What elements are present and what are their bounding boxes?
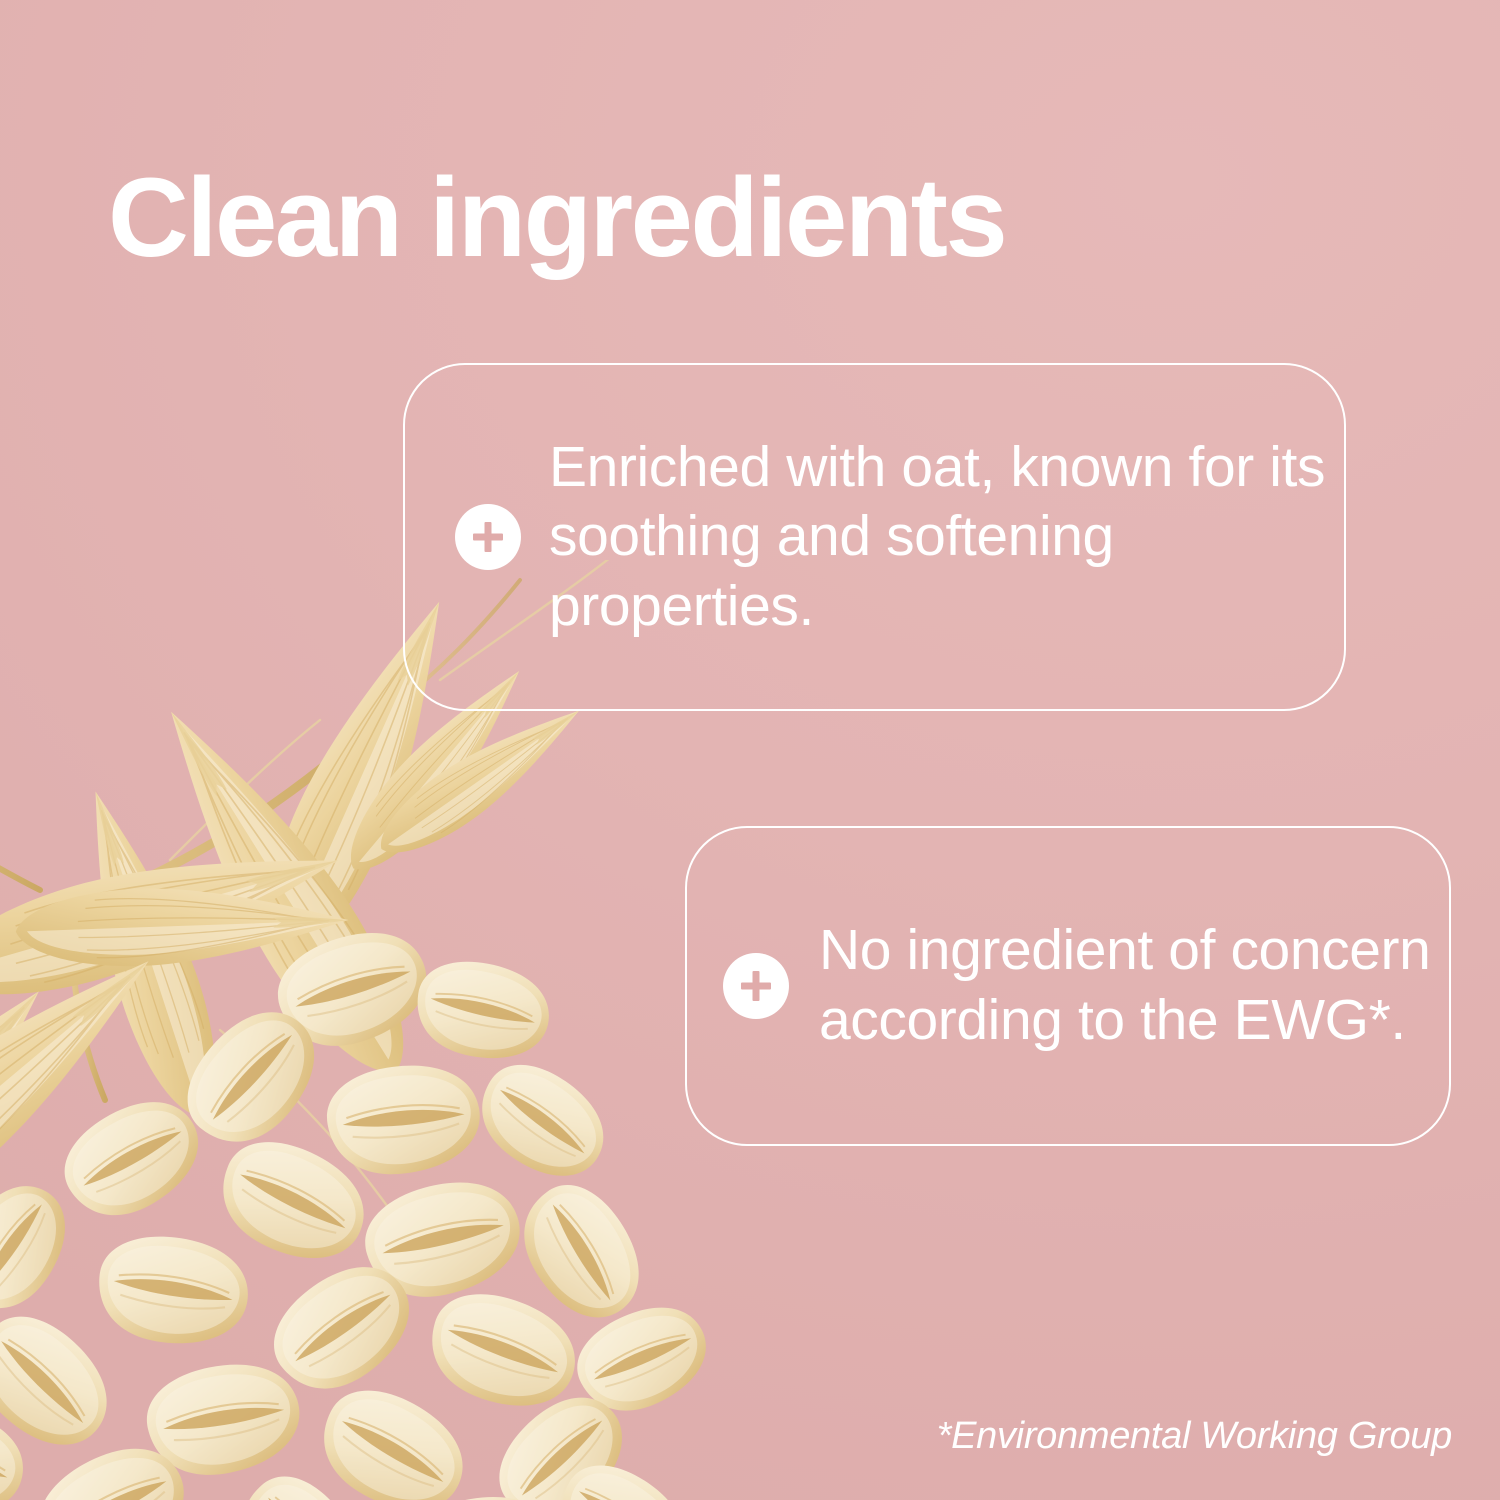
page-title: Clean ingredients — [108, 161, 1005, 275]
footnote-ewg-definition: *Environmental Working Group — [937, 1415, 1452, 1458]
product-feature-banner: Clean ingredients Enriched with oat, kno… — [0, 0, 1500, 1500]
fact-card-oat-text: Enriched with oat, known for its soothin… — [549, 433, 1344, 642]
fact-card-ewg-text: No ingredient of concern according to th… — [819, 916, 1449, 1055]
fact-card-ewg: No ingredient of concern according to th… — [685, 826, 1451, 1146]
fact-card-oat: Enriched with oat, known for its soothin… — [403, 363, 1346, 711]
plus-icon — [723, 953, 789, 1019]
plus-icon — [455, 504, 521, 570]
